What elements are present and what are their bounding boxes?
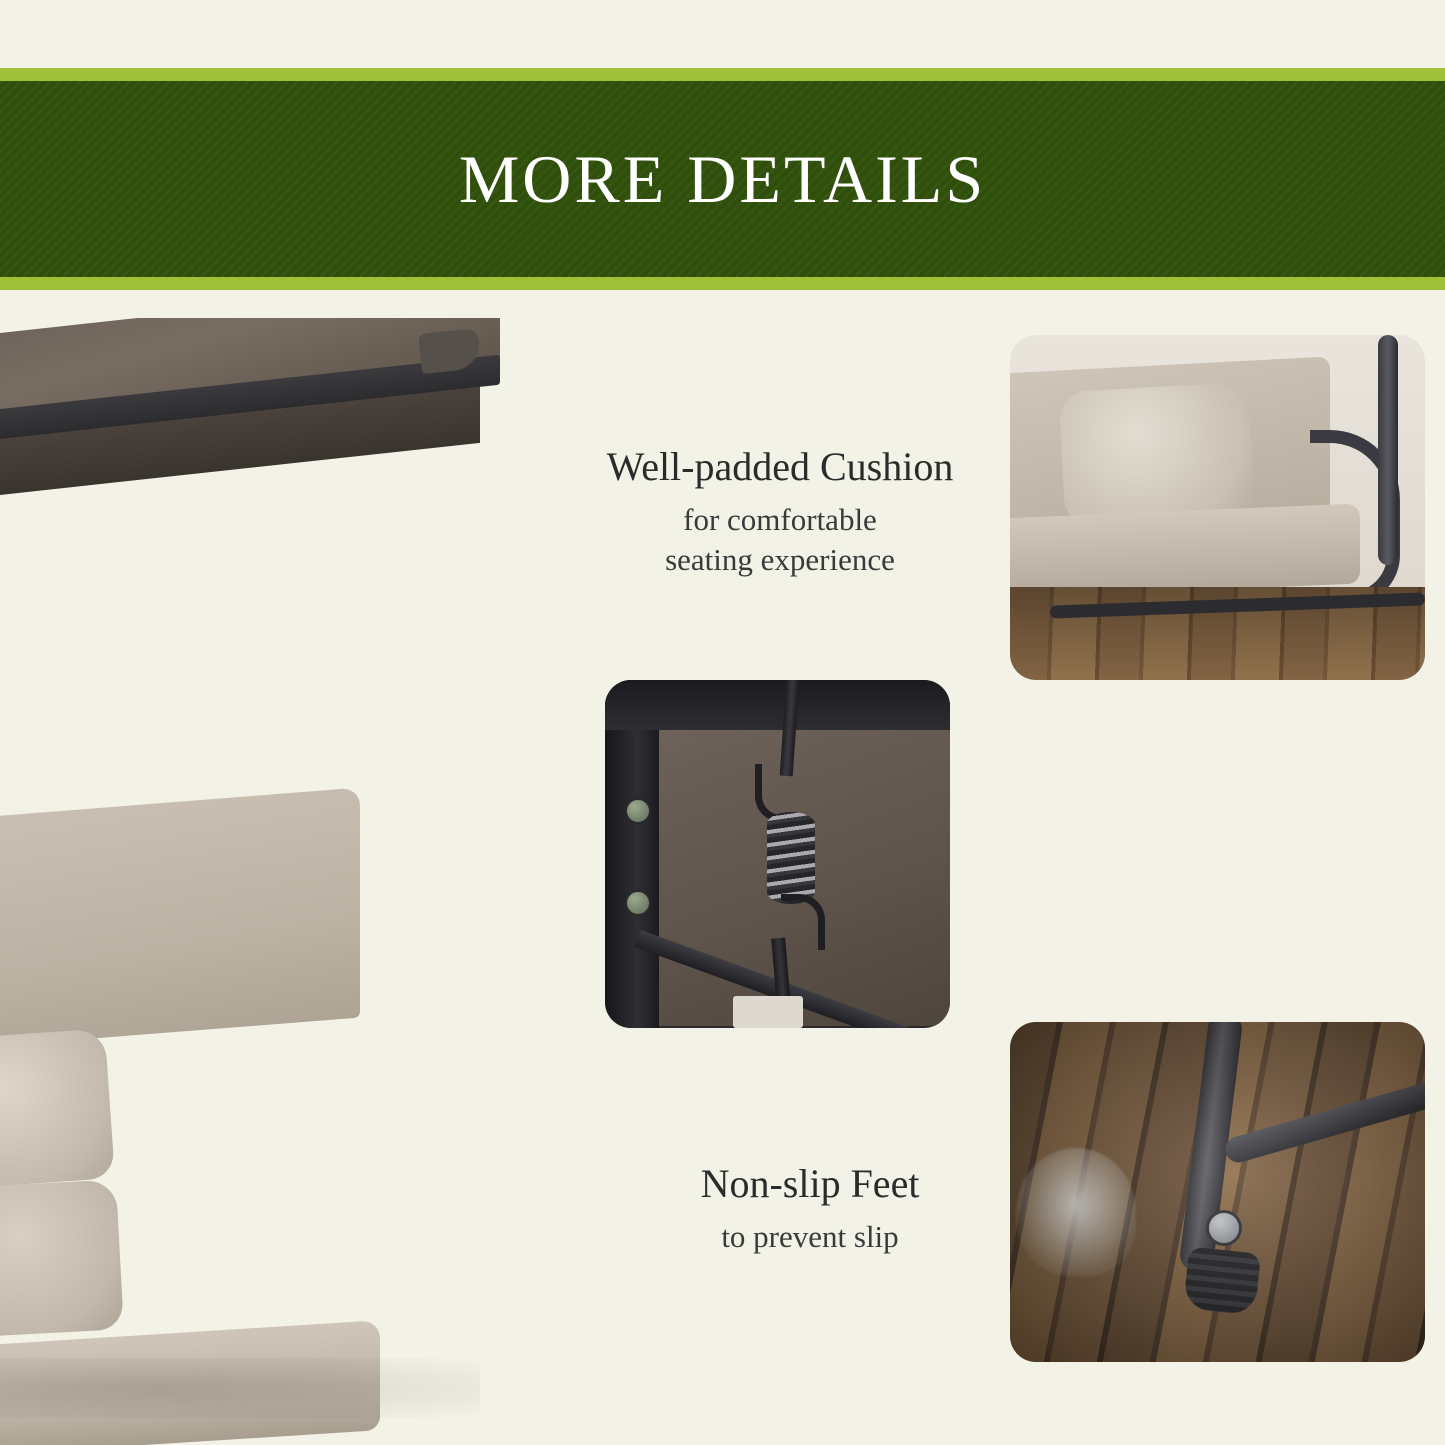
non-slip-feet-photo: [1010, 1022, 1425, 1362]
cushion-detail-photo: [1010, 335, 1425, 680]
caption-subtitle: to prevent slip: [650, 1217, 970, 1257]
hook-photo-spring: [767, 812, 815, 904]
hook-photo-background-gap: [733, 996, 803, 1028]
caption-title: Non-slip Feet: [650, 1160, 970, 1207]
caption-subtitle-line-2: seating experience: [565, 540, 995, 580]
hook-photo-lower-hook: [781, 894, 825, 950]
caption-well-padded-cushion: Well-padded Cushion for comfortable seat…: [565, 443, 995, 579]
header-banner: MORE DETAILS: [0, 68, 1445, 290]
feet-photo-vignette: [1010, 1022, 1425, 1362]
caption-subtitle: for comfortable seating experience: [565, 500, 995, 579]
spring-hook-detail-photo: [605, 680, 950, 1028]
bench-backrest-cushion: [0, 787, 360, 1050]
page-title: MORE DETAILS: [459, 140, 986, 219]
main-product-photo: [0, 318, 560, 1445]
caption-title: Well-padded Cushion: [565, 443, 995, 490]
bench-pillow-right: [0, 1179, 124, 1338]
bench-pillow-left: [0, 1028, 115, 1189]
hook-photo-frame-post: [605, 680, 659, 1028]
product-detail-page: MORE DETAILS Well-padded Cushion for com…: [0, 0, 1445, 1445]
cushion-seat: [1010, 503, 1360, 598]
caption-non-slip-feet: Non-slip Feet to prevent slip: [650, 1160, 970, 1257]
hook-photo-frame-rail: [605, 680, 950, 730]
product-ground-shadow: [0, 1358, 480, 1418]
hook-photo-screw-upper: [625, 798, 651, 824]
caption-subtitle-line-1: for comfortable: [565, 500, 995, 540]
cushion-photo-frame-post: [1378, 335, 1398, 565]
hook-photo-screw-lower: [625, 890, 651, 916]
